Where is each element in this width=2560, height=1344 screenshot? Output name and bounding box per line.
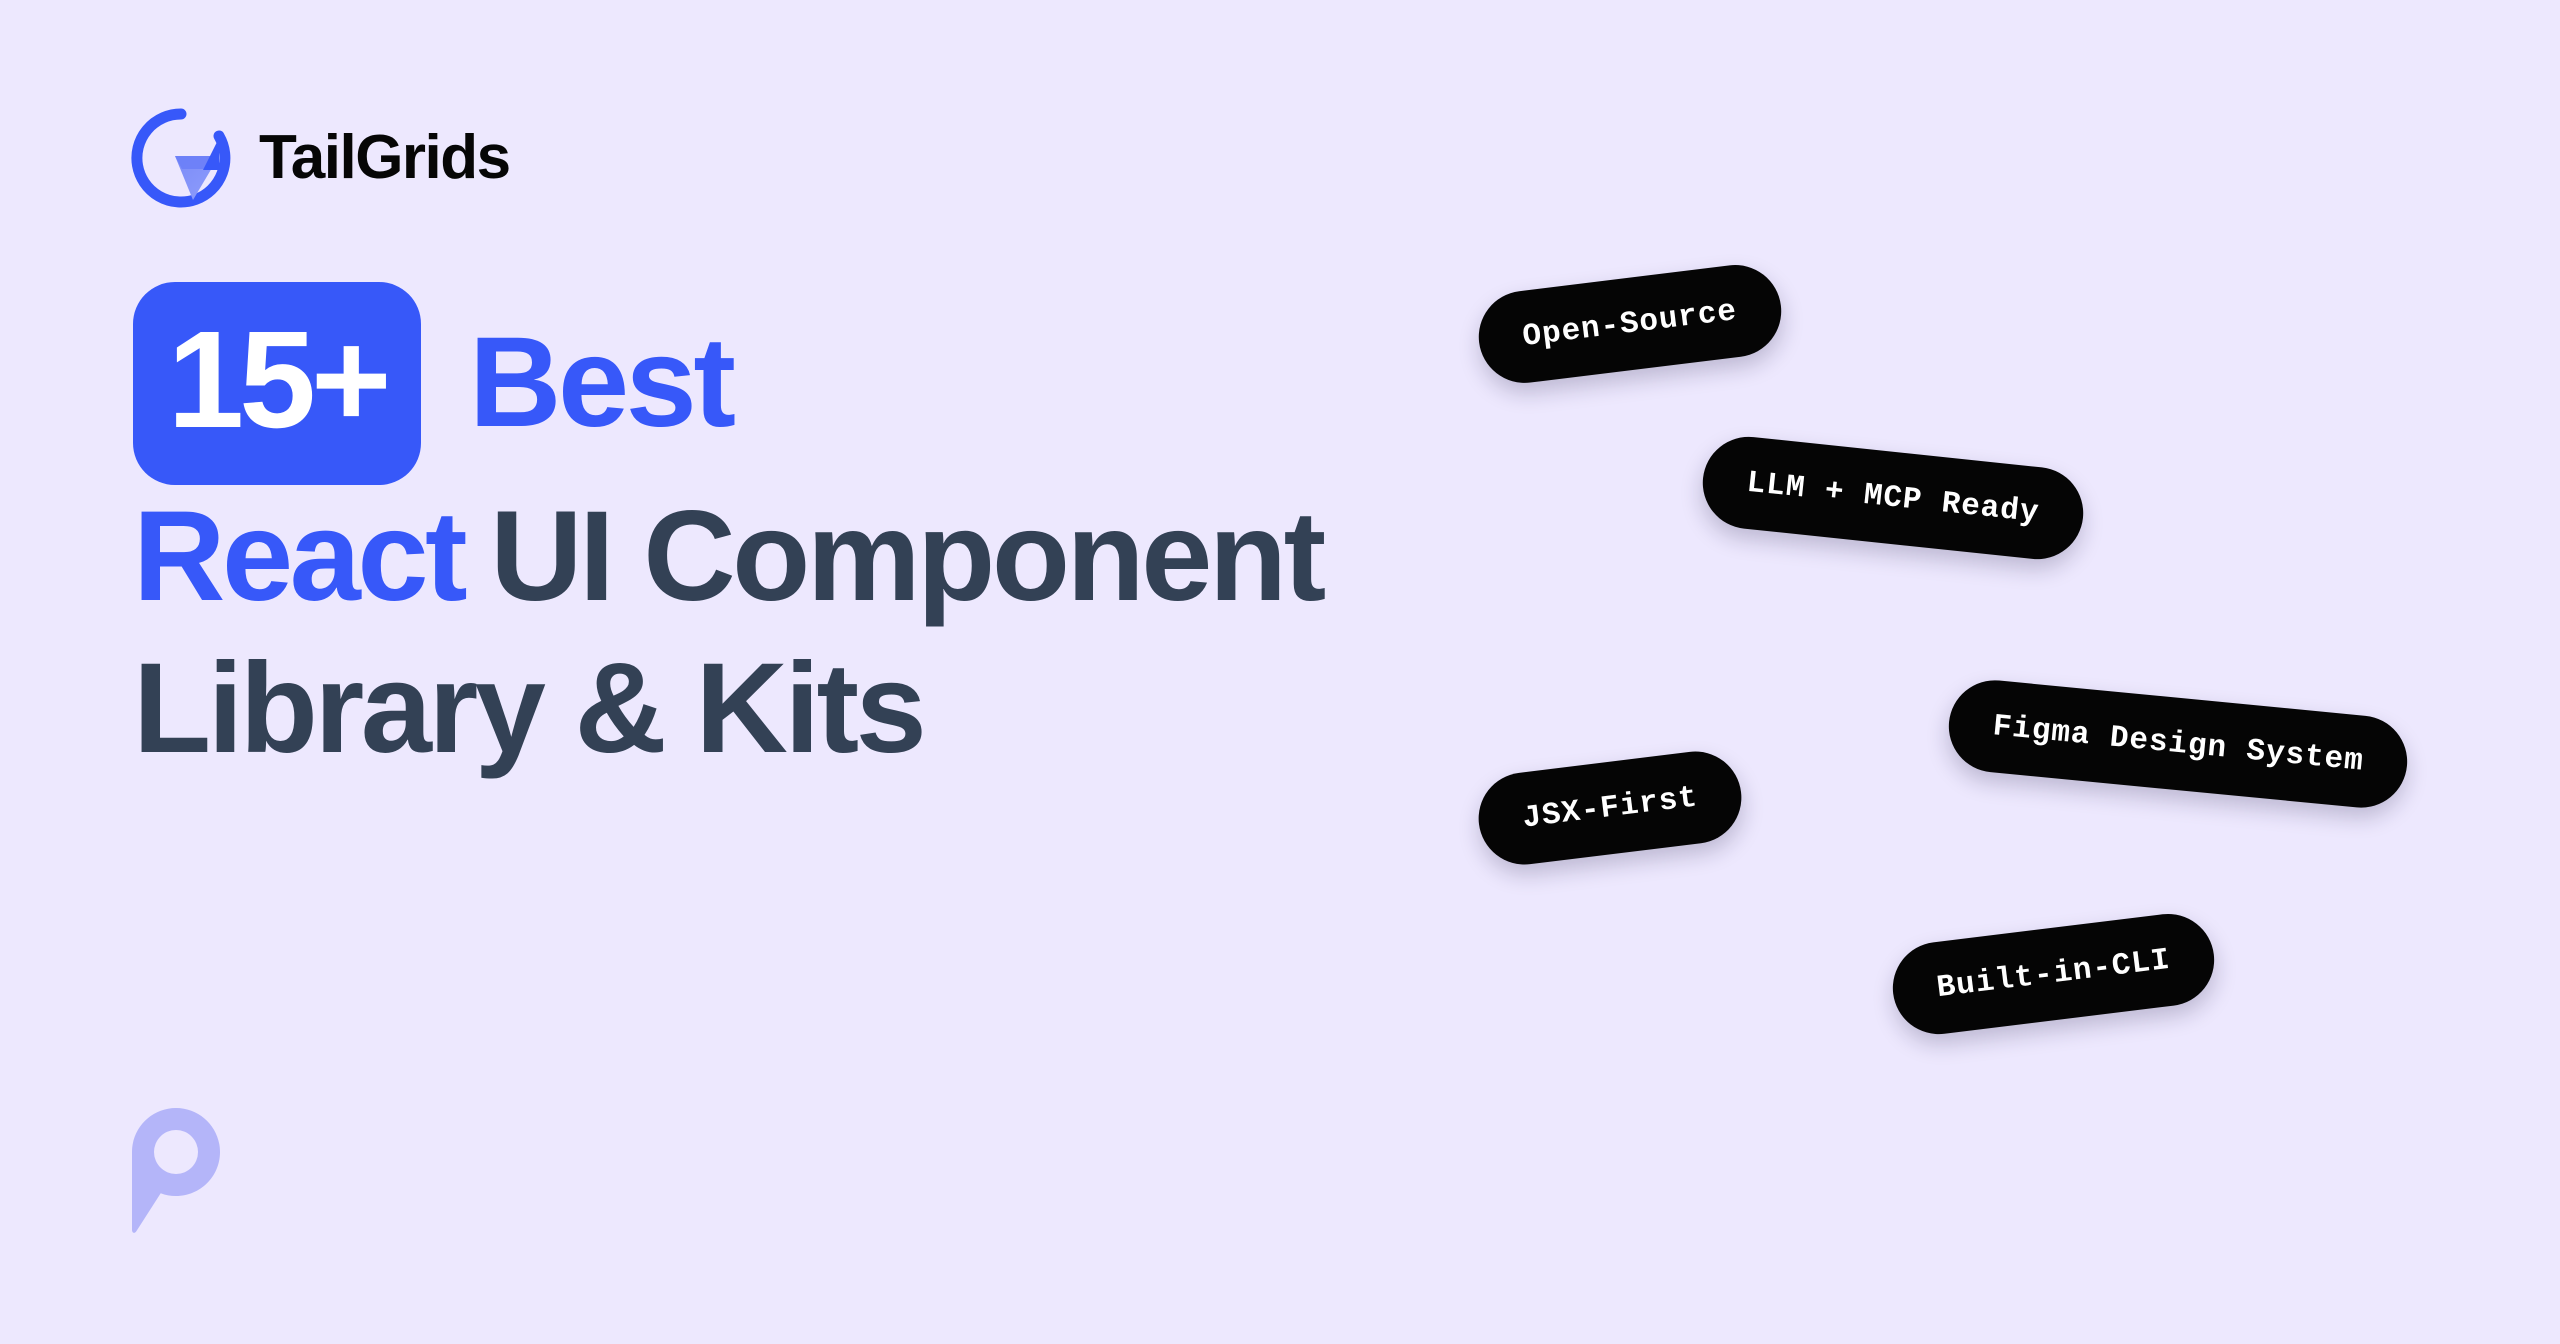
feature-pill-figma-design-system[interactable]: Figma Design System bbox=[1945, 676, 2412, 812]
headline-line-3: Library & Kits bbox=[133, 650, 1533, 768]
headline-line-2: React UI Component bbox=[133, 498, 1533, 616]
headline-words-ui-component: UI Component bbox=[490, 493, 1323, 621]
feature-pill-label: Figma Design System bbox=[1991, 709, 2365, 780]
brand-name: TailGrids bbox=[259, 127, 510, 189]
feature-pill-built-in-cli[interactable]: Built-in-CLI bbox=[1888, 909, 2220, 1040]
feature-pill-llm-mcp-ready[interactable]: LLM + MCP Ready bbox=[1698, 432, 2088, 563]
feature-pill-label: LLM + MCP Ready bbox=[1745, 465, 2041, 531]
brand-lockup[interactable]: TailGrids bbox=[131, 108, 510, 208]
count-badge-label: 15+ bbox=[167, 311, 386, 449]
hero-banner: TailGrids 15+ Best React UI Component Li… bbox=[0, 0, 2560, 1344]
feature-pill-label: JSX-First bbox=[1521, 780, 1700, 836]
count-badge: 15+ bbox=[133, 282, 421, 485]
pin-p-logo-icon bbox=[130, 1106, 222, 1234]
page-title: 15+ Best React UI Component Library & Ki… bbox=[133, 272, 1533, 768]
headline-line-1: 15+ Best bbox=[133, 272, 1533, 494]
feature-pill-label: Built-in-CLI bbox=[1935, 942, 2173, 1005]
headline-word-react: React bbox=[133, 493, 464, 621]
headline-word-best: Best bbox=[469, 319, 732, 447]
feature-pill-label: Open-Source bbox=[1521, 293, 1739, 354]
headline-words-library-kits: Library & Kits bbox=[133, 645, 923, 773]
tailgrids-g-logo-icon bbox=[131, 108, 231, 208]
